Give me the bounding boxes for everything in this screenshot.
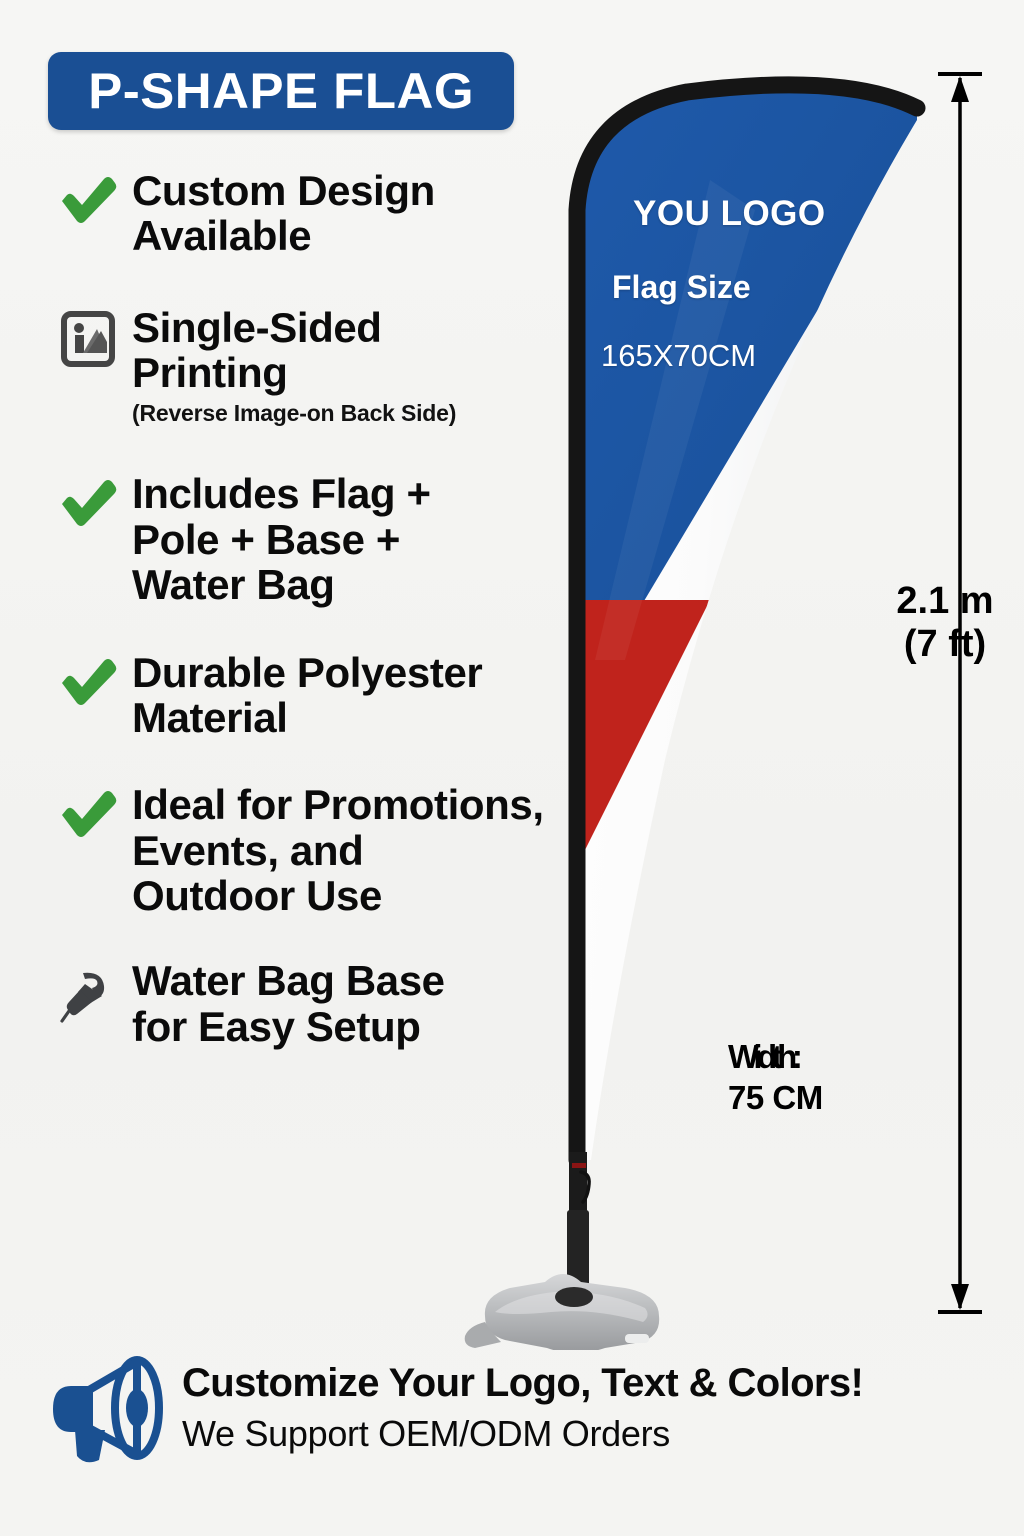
width-dimension-label: Width: 75 CM <box>728 1036 823 1119</box>
green-check-icon <box>44 471 132 527</box>
green-check-icon <box>44 168 132 224</box>
width-dimension-title: Width: <box>728 1036 823 1077</box>
footer-subline: We Support OEM/ODM Orders <box>182 1413 998 1455</box>
feather-flag-graphic <box>455 60 935 1350</box>
water-hose-nozzle-icon <box>44 958 132 1024</box>
infographic-page: P-SHAPE FLAG Custom Design Available <box>0 0 1024 1536</box>
product-image: YOU LOGO Flag Size 165X70CM <box>455 60 935 1350</box>
height-dimension-label: 2.1 m (7 ft) <box>880 580 1010 665</box>
flag-size-value: 165X70CM <box>601 338 756 374</box>
footer-headline: Customize Your Logo, Text & Colors! <box>182 1360 998 1407</box>
green-check-icon <box>44 650 132 706</box>
flag-size-label: Flag Size <box>612 269 751 306</box>
green-check-icon <box>44 782 132 838</box>
image-frame-icon <box>44 305 132 367</box>
megaphone-icon <box>38 1352 178 1464</box>
width-dimension-value: 75 CM <box>728 1077 823 1118</box>
height-dimension-arrow <box>930 68 990 1318</box>
flag-logo-text: YOU LOGO <box>633 194 826 234</box>
page-title: P-SHAPE FLAG <box>88 62 474 120</box>
footer-banner: Customize Your Logo, Text & Colors! We S… <box>38 1352 998 1464</box>
page-title-badge: P-SHAPE FLAG <box>48 52 514 130</box>
